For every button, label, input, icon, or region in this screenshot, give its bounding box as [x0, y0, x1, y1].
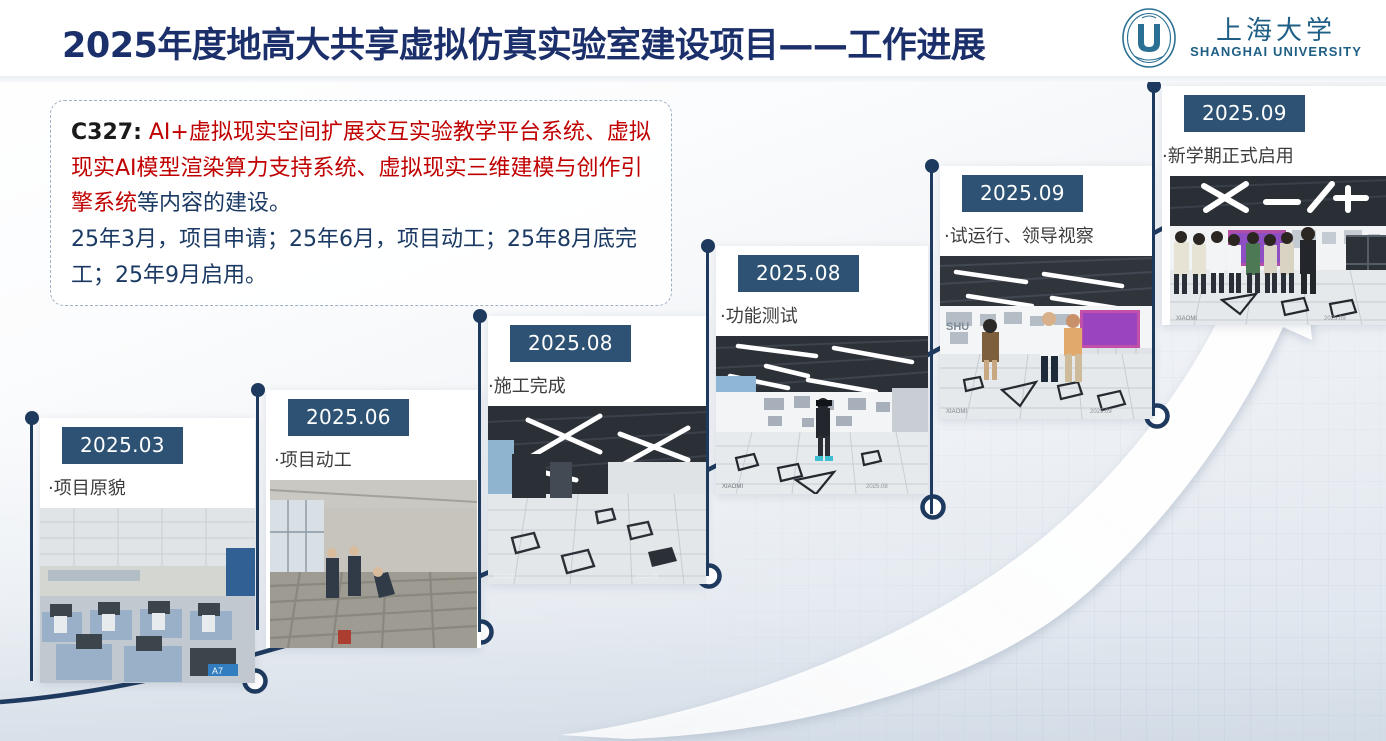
- milestone-body-3: 2025.08 ·施工完成: [488, 316, 706, 584]
- milestone-photo-6: XIAOMI 2025.09: [1170, 176, 1386, 325]
- milestone-body-6: 2025.09 ·新学期正式启用: [1162, 86, 1386, 325]
- milestone-caption-2: ·项目动工: [266, 436, 481, 480]
- shanghai-university-seal-icon: [1120, 7, 1178, 69]
- milestone-photo-3: XIAOMI 2025.08: [488, 406, 706, 584]
- svg-text:XIAOMI: XIAOMI: [1176, 316, 1197, 322]
- slide-canvas: 2025年度地高大共享虚拟仿真实验室建设项目——工作进展 上海大学 SHANGH…: [0, 0, 1386, 741]
- milestone-caption-6: ·新学期正式启用: [1162, 132, 1386, 176]
- logo-english-name: SHANGHAI UNIVERSITY: [1190, 45, 1362, 58]
- milestone-stem-1: [30, 418, 33, 681]
- milestone-date-badge-4: 2025.08: [738, 255, 859, 292]
- university-logo: 上海大学 SHANGHAI UNIVERSITY: [1120, 6, 1362, 70]
- milestone-stem-dot-2: [251, 383, 265, 397]
- milestone-caption-4: ·功能测试: [716, 292, 928, 336]
- logo-chinese-name: 上海大学: [1216, 18, 1336, 44]
- milestone-body-2: 2025.06 ·项目动工: [266, 390, 481, 648]
- svg-text:2025.09: 2025.09: [1090, 409, 1112, 415]
- milestone-stem-6: [1152, 86, 1155, 416]
- milestone-stem-2: [256, 390, 259, 630]
- milestone-caption-5: ·试运行、领导视察: [940, 212, 1153, 256]
- milestone-stem-4: [706, 246, 709, 576]
- milestone-date-badge-5: 2025.09: [962, 175, 1083, 212]
- milestone-body-5: 2025.09 ·试运行、领导视察: [940, 166, 1153, 419]
- milestone-photo-5: SHU: [940, 256, 1153, 419]
- milestone-stem-dot-5: [925, 159, 939, 173]
- svg-text:XIAOMI: XIAOMI: [946, 409, 967, 415]
- milestone-caption-3: ·施工完成: [488, 362, 706, 406]
- project-description-callout: C327: AI+虚拟现实空间扩展交互实验教学平台系统、虚拟现实AI模型渲染算力…: [50, 100, 672, 306]
- milestone-caption-1: ·项目原貌: [40, 464, 255, 508]
- callout-scope-paragraph: C327: AI+虚拟现实空间扩展交互实验教学平台系统、虚拟现实AI模型渲染算力…: [71, 115, 655, 222]
- milestone-body-1: 2025.03 ·项目原貌: [40, 418, 255, 683]
- milestone-stem-dot-3: [473, 309, 487, 323]
- slide-header: 2025年度地高大共享虚拟仿真实验室建设项目——工作进展 上海大学 SHANGH…: [0, 0, 1386, 76]
- milestone-stem-5: [930, 166, 933, 514]
- milestone-photo-4: XIAOMI 2025.08: [716, 336, 928, 494]
- milestone-stem-3: [478, 316, 481, 632]
- svg-text:XIAOMI: XIAOMI: [494, 574, 515, 580]
- svg-text:2025.08: 2025.08: [636, 574, 658, 580]
- header-divider: [0, 76, 1386, 82]
- milestone-date-badge-6: 2025.09: [1184, 95, 1305, 132]
- svg-text:XIAOMI: XIAOMI: [722, 484, 743, 490]
- callout-project-code: C327:: [71, 120, 142, 145]
- milestone-date-badge-3: 2025.08: [510, 325, 631, 362]
- milestone-photo-2: [270, 480, 477, 648]
- timeline-node-4: [923, 497, 944, 518]
- callout-tail-text: 等内容的建设。: [137, 191, 291, 216]
- milestone-stem-dot-4: [701, 239, 715, 253]
- milestone-photo-1: A7: [40, 508, 255, 683]
- svg-text:2025.09: 2025.09: [1324, 316, 1346, 322]
- callout-schedule-paragraph: 25年3月，项目申请；25年6月，项目动工；25年8月底完工；25年9月启用。: [71, 222, 655, 293]
- page-title: 2025年度地高大共享虚拟仿真实验室建设项目——工作进展: [62, 17, 985, 68]
- svg-text:SHU: SHU: [946, 321, 969, 333]
- milestone-date-badge-2: 2025.06: [288, 399, 409, 436]
- milestone-body-4: 2025.08 ·功能测试: [716, 246, 928, 494]
- milestone-stem-dot-1: [25, 411, 39, 425]
- svg-text:2025.08: 2025.08: [866, 484, 888, 490]
- milestone-date-badge-1: 2025.03: [62, 427, 183, 464]
